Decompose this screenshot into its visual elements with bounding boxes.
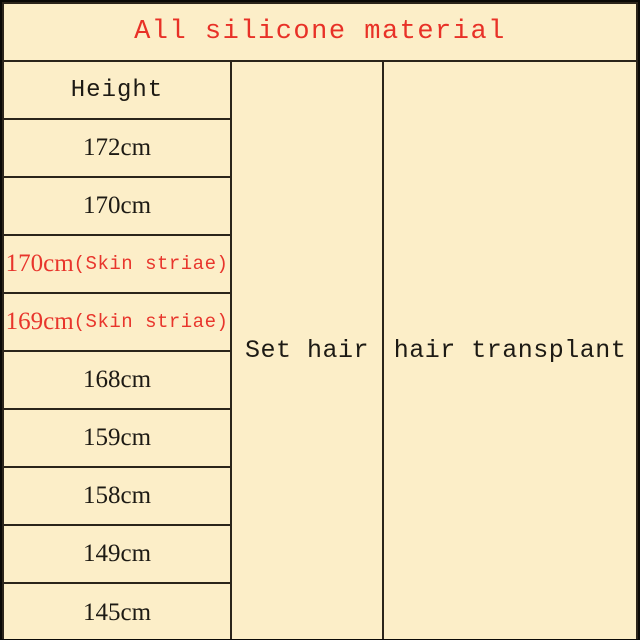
height-value: 159cm xyxy=(83,424,151,452)
table-row[interactable]: 172cm xyxy=(4,120,230,178)
table-row[interactable]: 170cm (Skin striae) xyxy=(4,236,230,294)
height-value: 168cm xyxy=(83,366,151,394)
height-value: 172cm xyxy=(83,134,151,162)
table-row[interactable]: 158cm xyxy=(4,468,230,526)
height-note: (Skin striae) xyxy=(74,311,229,333)
table-title-row: All silicone material xyxy=(4,4,636,62)
table-row[interactable]: 170cm xyxy=(4,178,230,236)
height-column: Height 172cm 170cm 170cm (Skin striae) 1… xyxy=(4,62,232,639)
table-row[interactable]: 159cm xyxy=(4,410,230,468)
height-column-header: Height xyxy=(4,62,230,120)
service-column-hair-transplant[interactable]: hair transplant xyxy=(384,62,636,639)
table-row[interactable]: 149cm xyxy=(4,526,230,584)
table-row[interactable]: 169cm (Skin striae) xyxy=(4,294,230,352)
height-value: 145cm xyxy=(83,599,151,627)
table-row[interactable]: 145cm xyxy=(4,584,230,639)
table-row[interactable]: 168cm xyxy=(4,352,230,410)
product-spec-table: All silicone material Height 172cm 170cm… xyxy=(2,2,638,639)
height-header-label: Height xyxy=(71,77,163,104)
height-value: 170cm xyxy=(6,250,74,278)
service-label-set-hair: Set hair xyxy=(245,336,369,365)
height-value: 169cm xyxy=(6,308,74,336)
table-title: All silicone material xyxy=(134,17,506,47)
height-value: 158cm xyxy=(83,482,151,510)
service-column-set-hair[interactable]: Set hair xyxy=(232,62,384,639)
height-value: 149cm xyxy=(83,540,151,568)
table-body: Height 172cm 170cm 170cm (Skin striae) 1… xyxy=(4,62,636,639)
service-label-hair-transplant: hair transplant xyxy=(394,336,627,365)
height-note: (Skin striae) xyxy=(74,253,229,275)
height-value: 170cm xyxy=(83,192,151,220)
